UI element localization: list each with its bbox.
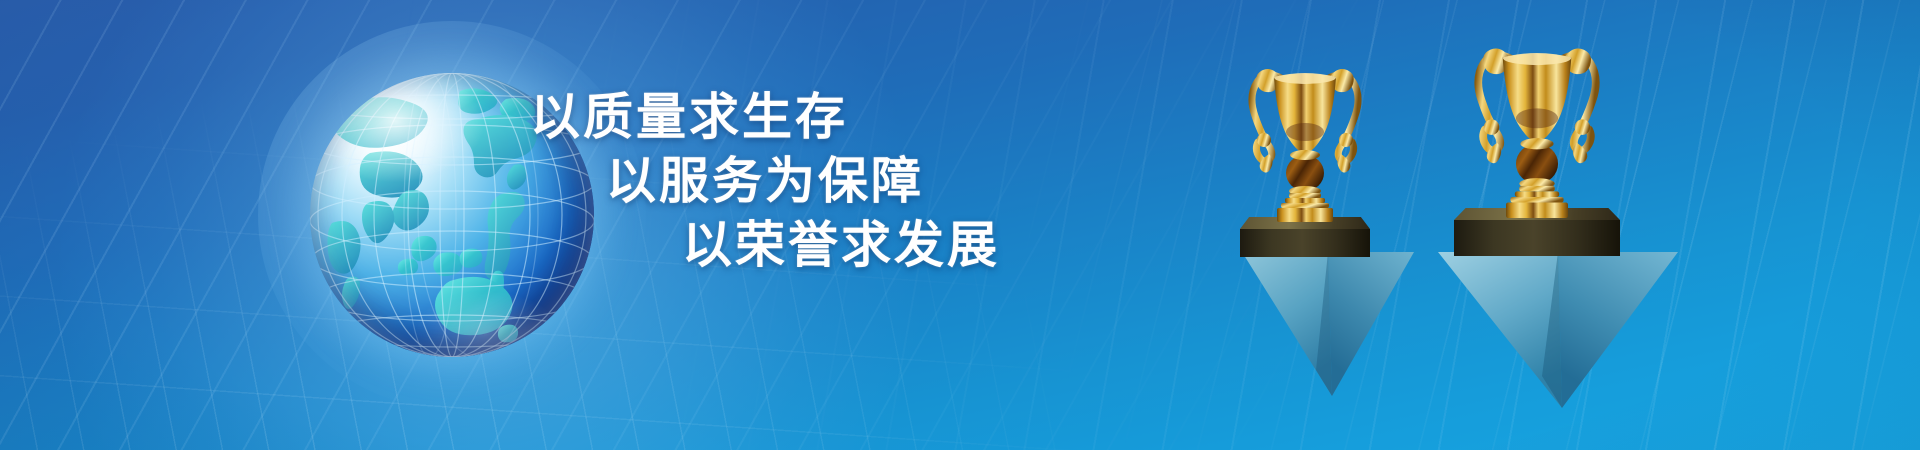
hero-banner: 以质量求生存 以服务为保障 以荣誉求发展 <box>0 0 1920 450</box>
background-vignette <box>0 0 1920 450</box>
